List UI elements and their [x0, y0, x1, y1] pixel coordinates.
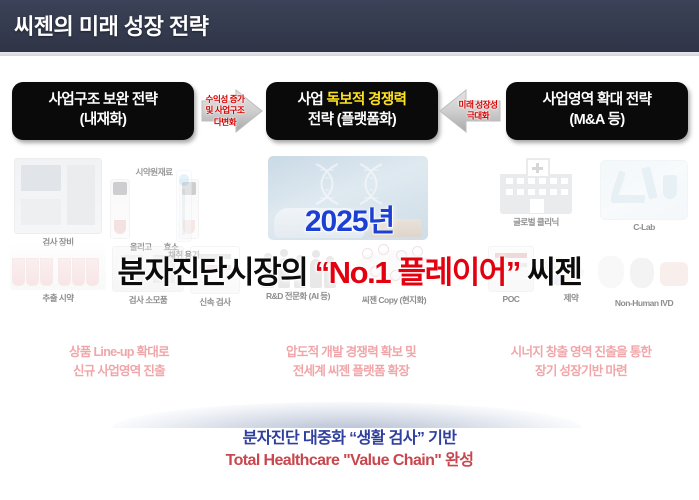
strategy-box-right-line1: 사업영역 확대 전략 [543, 91, 652, 111]
page-title: 씨젠의 미래 성장 전략 [14, 9, 209, 41]
seegene-copy-label: 씨젠 Copy (현지화) [352, 294, 436, 306]
arrow-right: 미래 성장성 극대화 [438, 82, 506, 140]
strategy-box-left-line1: 사업구조 보완 전략 [49, 91, 158, 111]
headline-part2: 씨젠 [520, 255, 581, 290]
caption-center: 압도적 개발 경쟁력 확보 및 전세계 씨젠 플랫폼 확장 [238, 343, 464, 381]
strategy-box-left-line2: (내재화) [80, 111, 127, 131]
caption-right-line1: 시너지 창출 영역 진출을 통한 [470, 343, 692, 362]
headline-quote: “No.1 플레이어” [315, 255, 520, 290]
arrow-right-label: 미래 성장성 극대화 [444, 100, 512, 123]
strategy-box-right[interactable]: 사업영역 확대 전략 (M&A 등) [506, 82, 688, 140]
caption-center-line2: 전세계 씨젠 플랫폼 확장 [238, 362, 464, 381]
caption-left-line1: 상품 Line-up 확대로 [8, 343, 230, 362]
caption-right-line2: 장기 성장기반 마련 [470, 362, 692, 381]
arrow-right-label-line1: 미래 성장성 [444, 100, 512, 111]
headline: 분자진단시장의 “No.1 플레이어” 씨젠 [0, 247, 699, 292]
caption-left: 상품 Line-up 확대로 신규 사업영역 진출 [8, 343, 230, 381]
caption-center-line1: 압도적 개발 경쟁력 확보 및 [238, 343, 464, 362]
arrow-left-label-line1: 수익성 증가 [190, 94, 260, 105]
caption-left-line2: 신규 사업영역 진출 [8, 362, 230, 381]
strategy-box-center-line2: 전략 (플랫폼화) [308, 111, 396, 131]
strategy-box-center[interactable]: 사업 독보적 경쟁력 전략 (플랫폼화) [266, 82, 438, 140]
strategy-box-center-line1-pre: 사업 [298, 92, 327, 108]
product-grid: 검사 장비 시약원재료 올리고 효소 채취 용기 [0, 152, 699, 332]
extraction-reagent-label: 추출 시약 [10, 292, 106, 304]
arrow-left-label-line2: 및 사업구조 [190, 105, 260, 116]
pharma-label: 제약 [540, 292, 602, 304]
poc-label: POC [488, 294, 534, 304]
arrow-left-label: 수익성 증가 및 사업구조 다변화 [190, 94, 260, 128]
headline-part1: 분자진단시장의 [118, 255, 315, 290]
bottom-banner: 분자진단 대중화 “생활 검사” 기반 Total Healthcare "Va… [0, 428, 699, 472]
banner-line1: 분자진단 대중화 “생활 검사” 기반 [0, 428, 699, 450]
arrow-right-label-line2: 극대화 [444, 111, 512, 122]
non-human-ivd-label: Non-Human IVD [596, 298, 692, 308]
slide-canvas: 씨젠의 미래 성장 전략 사업구조 보완 전략 (내재화) 수익성 증가 및 [0, 0, 699, 500]
strategy-box-center-line1: 사업 독보적 경쟁력 [298, 91, 407, 111]
banner-line2: Total Healthcare "Value Chain" 완성 [0, 450, 699, 472]
year-overlay: 2025년 [0, 196, 699, 240]
strategy-box-center-highlight: 독보적 경쟁력 [327, 92, 407, 108]
strategy-box-left[interactable]: 사업구조 보완 전략 (내재화) [12, 82, 194, 140]
strategy-box-right-line2: (M&A 등) [569, 111, 624, 131]
title-underline [0, 52, 699, 56]
strategy-box-row: 사업구조 보완 전략 (내재화) 수익성 증가 및 사업구조 다변화 [0, 82, 699, 144]
arrow-left-label-line3: 다변화 [190, 117, 260, 128]
arrow-left: 수익성 증가 및 사업구조 다변화 [196, 82, 266, 140]
test-consumables-label: 검사 소모품 [112, 294, 184, 306]
rapid-test-label: 신속 검사 [190, 296, 240, 308]
banner-arc-decoration [112, 402, 582, 428]
caption-right: 시너지 창출 영역 진출을 통한 장기 성장기반 마련 [470, 343, 692, 381]
